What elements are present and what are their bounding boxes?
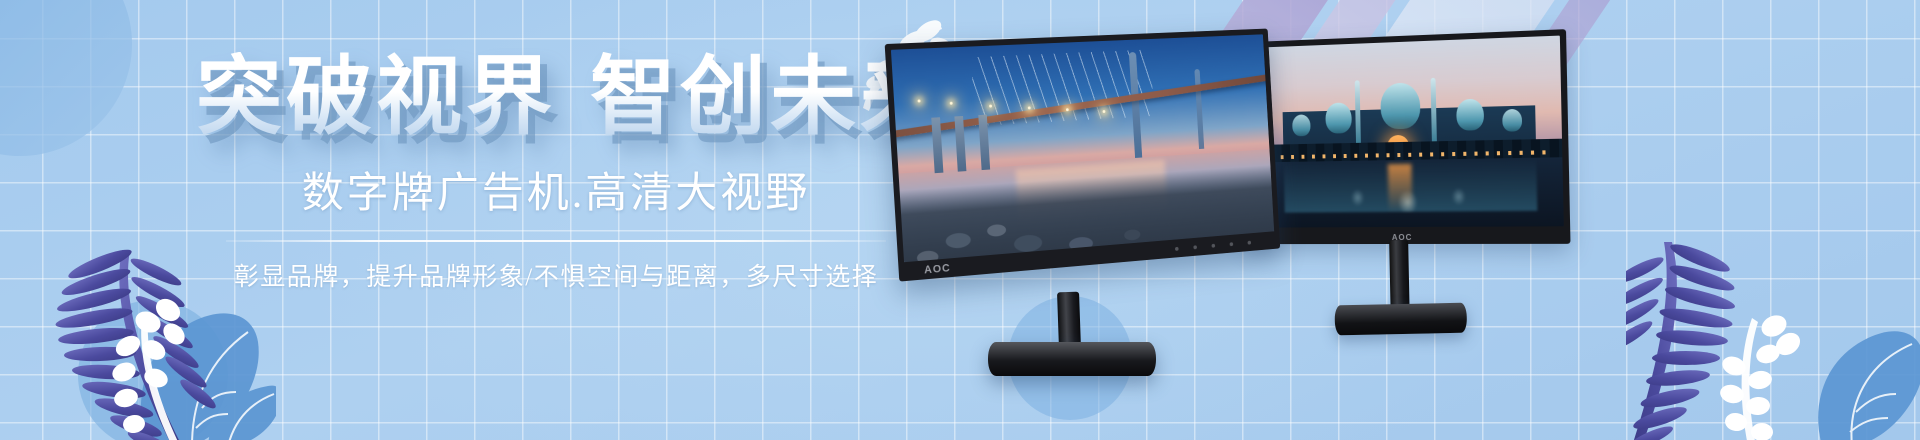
bridge-lamp-2 [989, 104, 992, 107]
headline-text-block: 突破视界 智创未来 数字牌广告机.高清大视野 彰显品牌，提升品牌形象/不惧空间与… [196, 52, 916, 293]
mosque-minaret-right [1430, 78, 1436, 141]
monitor-button-3[interactable] [1212, 244, 1216, 248]
monitor-right-stand-neck [1389, 240, 1409, 310]
mosque-reflection-glow [1388, 164, 1413, 212]
monitor-button-2[interactable] [1193, 245, 1197, 249]
monitor-right-stand-base [1334, 303, 1467, 336]
monitor-left-stand-base [988, 342, 1156, 376]
bridge-lamp-3 [1028, 106, 1031, 109]
mosque-dome-left [1325, 103, 1352, 134]
mosque-dome-far-right [1502, 109, 1522, 132]
screen-artwork-bridge [891, 34, 1274, 262]
monitor-left-brand-logo: AOC [924, 262, 951, 276]
monitor-button-1[interactable] [1175, 247, 1179, 251]
bridge-lamp-6 [918, 99, 921, 102]
description-text: 彰显品牌，提升品牌形象/不惧空间与距离，多尺寸选择 [196, 257, 916, 293]
bridge-lamp-1 [950, 102, 953, 105]
page-title: 突破视界 智创未来 [196, 52, 916, 143]
hero-banner: 突破视界 智创未来 数字牌广告机.高清大视野 彰显品牌，提升品牌形象/不惧空间与… [0, 0, 1920, 440]
monitor-left-stand-neck [1057, 292, 1081, 349]
subtitle: 数字牌广告机.高清大视野 [196, 159, 916, 220]
decor-circle-bottom-left [78, 300, 228, 440]
bridge-lamp-4 [1065, 108, 1068, 111]
monitor-button-5[interactable] [1248, 241, 1252, 245]
mosque-dome-main [1380, 82, 1420, 129]
bridge-pylon-far [1195, 69, 1205, 149]
monitor-left-panel: AOC [885, 29, 1281, 282]
mosque-dome-right [1456, 99, 1484, 131]
monitor-left-screen [891, 34, 1274, 262]
monitor-button-4[interactable] [1230, 242, 1234, 246]
divider-rule [226, 240, 886, 242]
monitor-left-control-buttons[interactable] [1175, 241, 1251, 251]
monitor-left: AOC [892, 44, 1312, 344]
